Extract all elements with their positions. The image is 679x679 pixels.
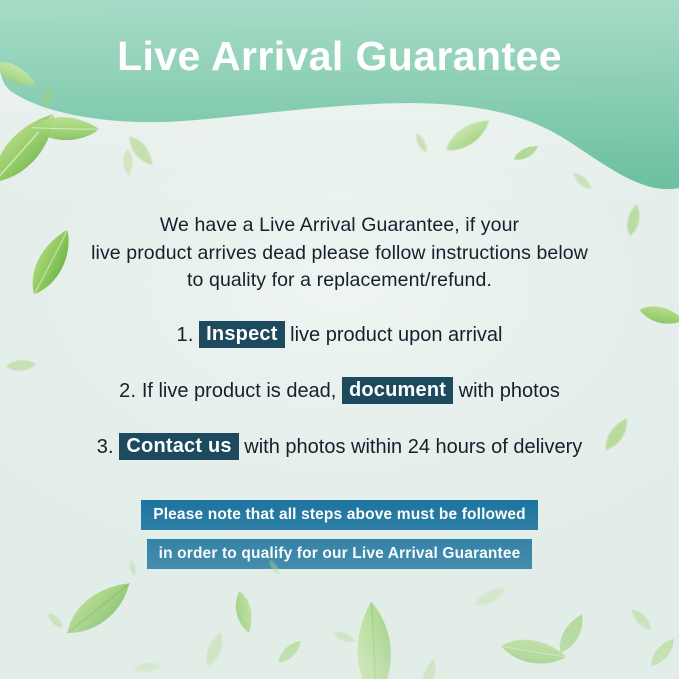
live-arrival-guarantee-poster: Live Arrival Guarantee We have a Live Ar… <box>0 0 679 679</box>
background-vignette <box>0 0 679 679</box>
